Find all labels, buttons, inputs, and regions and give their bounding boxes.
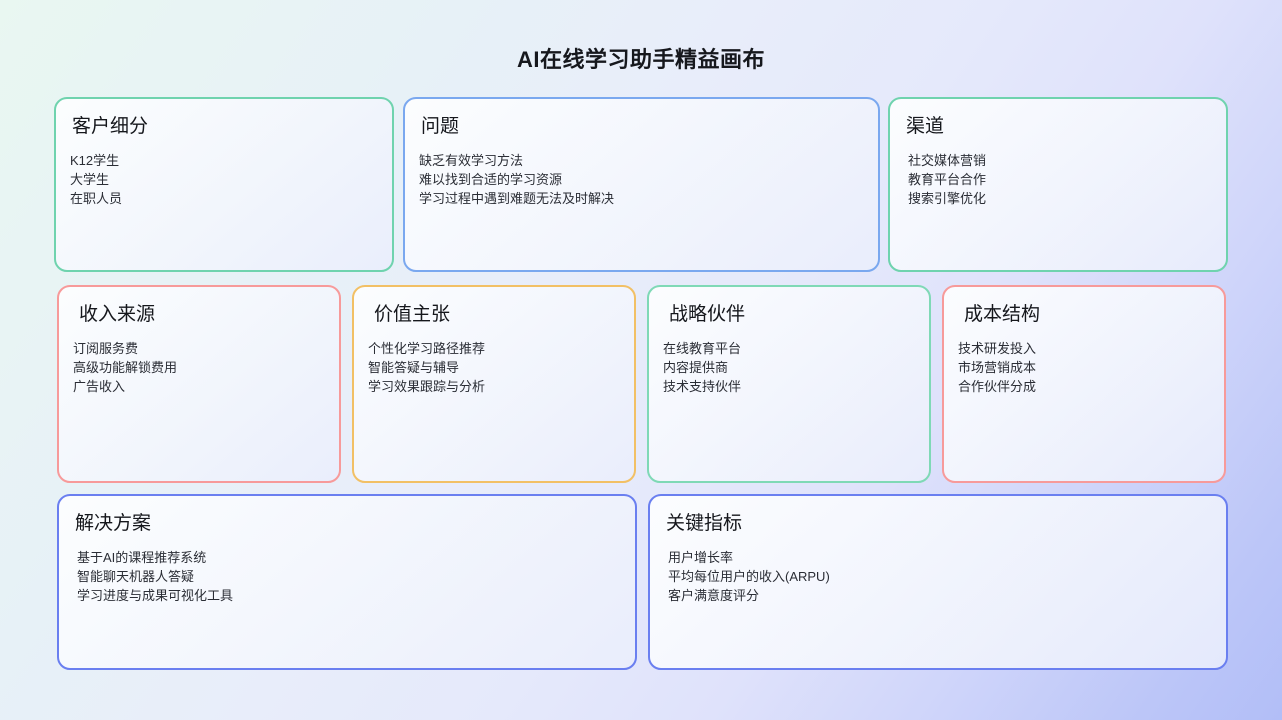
list-item: 学习过程中遇到难题无法及时解决 (419, 189, 864, 208)
card-cost-structure[interactable]: 成本结构 技术研发投入 市场营销成本 合作伙伴分成 (942, 285, 1226, 483)
list-item: 学习效果跟踪与分析 (368, 377, 620, 396)
list-item: 智能聊天机器人答疑 (77, 567, 621, 586)
list-item: 市场营销成本 (958, 358, 1210, 377)
card-title-key-metrics: 关键指标 (666, 512, 1212, 536)
card-value-proposition[interactable]: 价值主张 个性化学习路径推荐 智能答疑与辅导 学习效果跟踪与分析 (352, 285, 636, 483)
card-revenue-streams[interactable]: 收入来源 订阅服务费 高级功能解锁费用 广告收入 (57, 285, 341, 483)
card-solution[interactable]: 解决方案 基于AI的课程推荐系统 智能聊天机器人答疑 学习进度与成果可视化工具 (57, 494, 637, 670)
card-items-problem: 缺乏有效学习方法 难以找到合适的学习资源 学习过程中遇到难题无法及时解决 (419, 151, 864, 208)
list-item: 大学生 (70, 170, 378, 189)
card-title-revenue-streams: 收入来源 (79, 303, 325, 327)
list-item: K12学生 (70, 151, 378, 170)
card-items-cost-structure: 技术研发投入 市场营销成本 合作伙伴分成 (958, 339, 1210, 396)
list-item: 技术支持伙伴 (663, 377, 915, 396)
list-item: 在职人员 (70, 189, 378, 208)
list-item: 个性化学习路径推荐 (368, 339, 620, 358)
card-items-value-proposition: 个性化学习路径推荐 智能答疑与辅导 学习效果跟踪与分析 (368, 339, 620, 396)
list-item: 学习进度与成果可视化工具 (77, 586, 621, 605)
list-item: 社交媒体营销 (908, 151, 1212, 170)
list-item: 合作伙伴分成 (958, 377, 1210, 396)
card-items-revenue-streams: 订阅服务费 高级功能解锁费用 广告收入 (73, 339, 325, 396)
list-item: 用户增长率 (668, 548, 1212, 567)
card-items-solution: 基于AI的课程推荐系统 智能聊天机器人答疑 学习进度与成果可视化工具 (73, 548, 621, 605)
list-item: 广告收入 (73, 377, 325, 396)
card-title-strategic-partners: 战略伙伴 (669, 303, 915, 327)
card-items-customer-segments: K12学生 大学生 在职人员 (70, 151, 378, 208)
card-items-strategic-partners: 在线教育平台 内容提供商 技术支持伙伴 (663, 339, 915, 396)
card-customer-segments[interactable]: 客户细分 K12学生 大学生 在职人员 (54, 97, 394, 272)
card-title-customer-segments: 客户细分 (72, 115, 378, 139)
card-strategic-partners[interactable]: 战略伙伴 在线教育平台 内容提供商 技术支持伙伴 (647, 285, 931, 483)
card-title-solution: 解决方案 (75, 512, 621, 536)
list-item: 难以找到合适的学习资源 (419, 170, 864, 189)
list-item: 内容提供商 (663, 358, 915, 377)
card-key-metrics[interactable]: 关键指标 用户增长率 平均每位用户的收入(ARPU) 客户满意度评分 (648, 494, 1228, 670)
list-item: 平均每位用户的收入(ARPU) (668, 567, 1212, 586)
page-title: AI在线学习助手精益画布 (0, 42, 1282, 74)
card-title-channels: 渠道 (906, 115, 1212, 139)
card-title-value-proposition: 价值主张 (374, 303, 620, 327)
list-item: 订阅服务费 (73, 339, 325, 358)
card-channels[interactable]: 渠道 社交媒体营销 教育平台合作 搜索引擎优化 (888, 97, 1228, 272)
list-item: 基于AI的课程推荐系统 (77, 548, 621, 567)
lean-canvas-page: AI在线学习助手精益画布 客户细分 K12学生 大学生 在职人员 问题 缺乏有效… (0, 0, 1282, 720)
list-item: 高级功能解锁费用 (73, 358, 325, 377)
list-item: 缺乏有效学习方法 (419, 151, 864, 170)
list-item: 客户满意度评分 (668, 586, 1212, 605)
card-title-cost-structure: 成本结构 (964, 303, 1210, 327)
list-item: 教育平台合作 (908, 170, 1212, 189)
card-problem[interactable]: 问题 缺乏有效学习方法 难以找到合适的学习资源 学习过程中遇到难题无法及时解决 (403, 97, 880, 272)
card-items-channels: 社交媒体营销 教育平台合作 搜索引擎优化 (904, 151, 1212, 208)
list-item: 在线教育平台 (663, 339, 915, 358)
list-item: 技术研发投入 (958, 339, 1210, 358)
list-item: 搜索引擎优化 (908, 189, 1212, 208)
card-title-problem: 问题 (421, 115, 864, 139)
list-item: 智能答疑与辅导 (368, 358, 620, 377)
card-items-key-metrics: 用户增长率 平均每位用户的收入(ARPU) 客户满意度评分 (664, 548, 1212, 605)
